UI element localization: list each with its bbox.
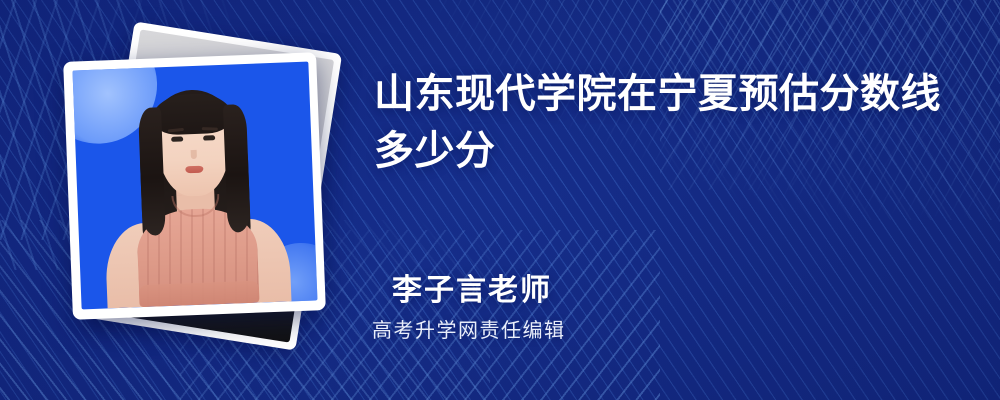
portrait-lips — [185, 166, 203, 174]
portrait-hair-left — [138, 107, 166, 236]
author-role: 高考升学网责任编辑 — [372, 316, 566, 346]
photo-stack — [68, 40, 338, 360]
portrait-hair-fringe — [151, 93, 232, 136]
portrait-hair-right — [223, 104, 251, 233]
portrait-nose — [191, 150, 197, 159]
page-title: 山东现代学院在宁夏预估分数线多少分 — [374, 66, 974, 180]
portrait-eye-right — [203, 135, 215, 140]
portrait-eye-left — [171, 136, 183, 141]
portrait-eyebrow-right — [202, 127, 218, 131]
banner-image: 山东现代学院在宁夏预估分数线多少分 李子言老师 高考升学网责任编辑 — [0, 0, 1000, 400]
author-name: 李子言老师 — [392, 272, 566, 310]
portrait-figure — [72, 62, 317, 310]
photo-card-front — [63, 52, 326, 320]
portrait-dress-waist — [139, 281, 260, 308]
byline-block: 李子言老师 高考升学网责任编辑 — [392, 272, 566, 346]
portrait-photo — [72, 62, 317, 310]
headline-block: 山东现代学院在宁夏预估分数线多少分 — [374, 66, 974, 180]
